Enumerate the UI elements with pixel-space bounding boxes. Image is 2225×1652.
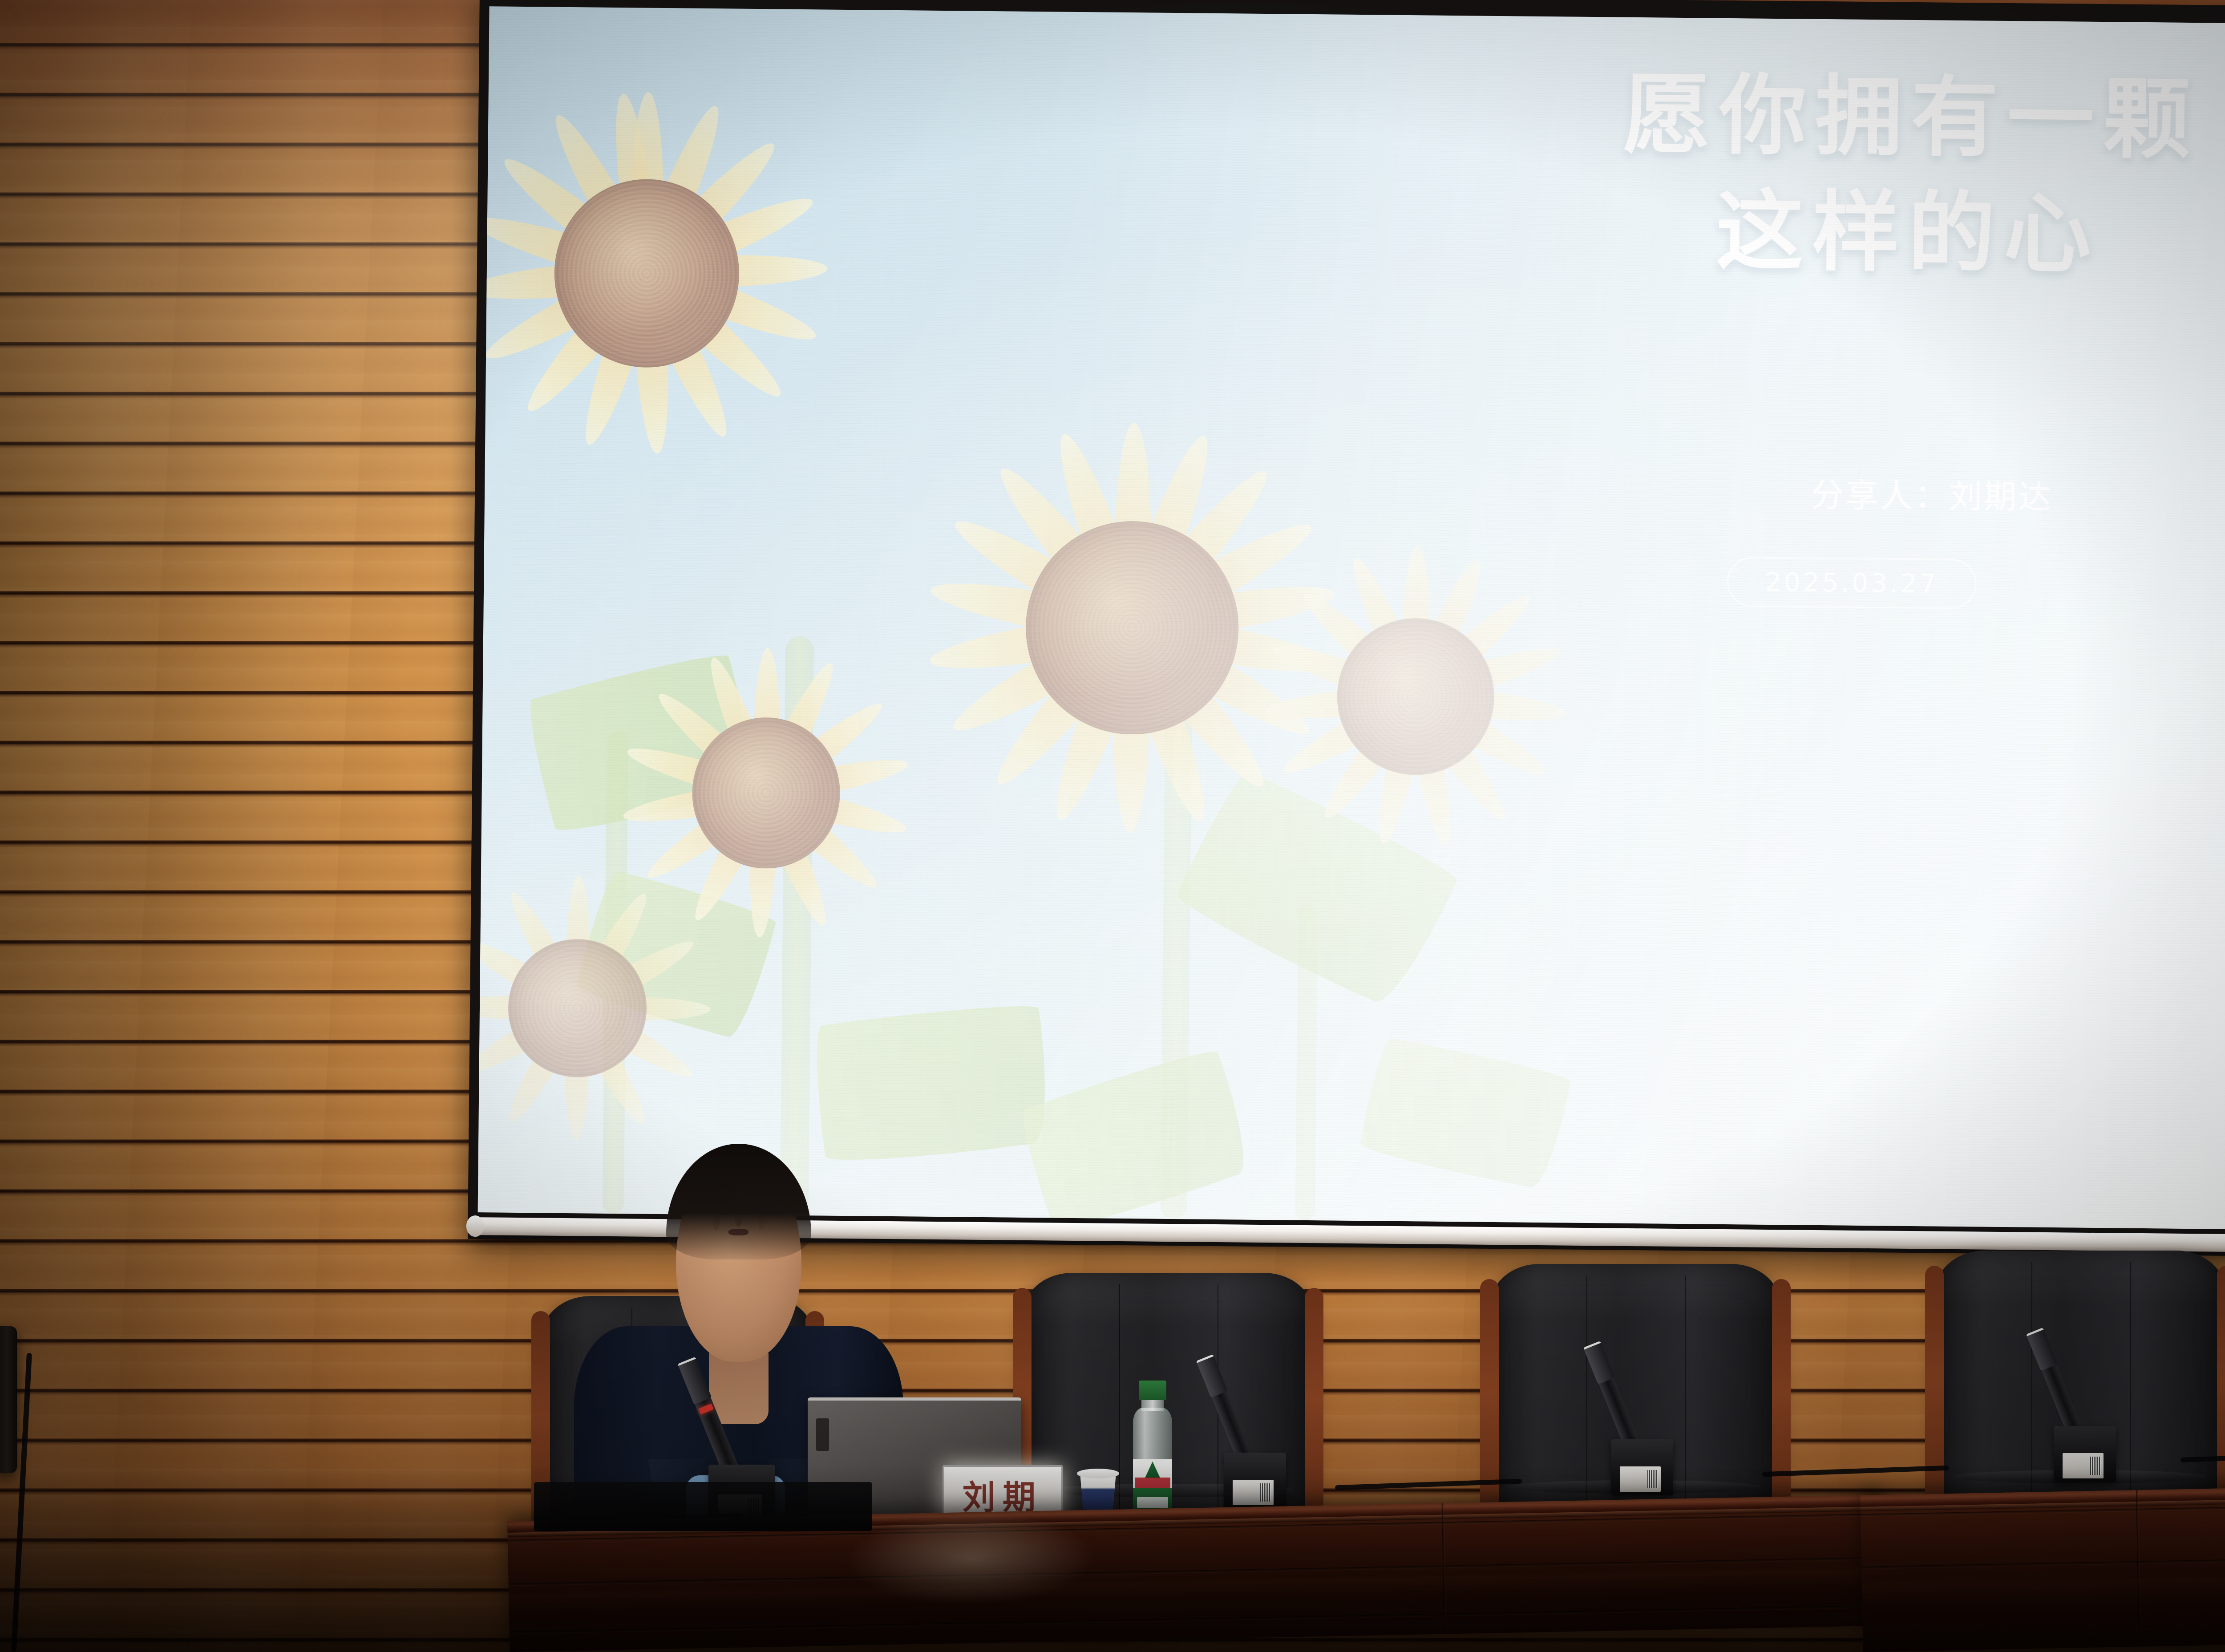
slide-presenter-label: 分享人：刘期达 <box>1811 469 2053 518</box>
qr-code-icon <box>2090 1457 2101 1475</box>
microphone-base <box>1611 1439 1673 1495</box>
slide-date-text: 2025.03.27 <box>1765 567 1939 599</box>
desk-equipment-cluster <box>534 1482 872 1531</box>
microphone-led-indicator <box>698 1403 713 1414</box>
desk-panel-groove <box>509 1557 1884 1586</box>
microphone-label <box>1233 1480 1274 1506</box>
roller-cap-left <box>466 1215 484 1237</box>
laptop-logo-icon <box>816 1418 829 1451</box>
slide-title-line-2: 这样的心 <box>1716 187 2100 278</box>
cup-rim <box>1077 1469 1119 1478</box>
bottle-brand-text <box>1135 1478 1171 1488</box>
slide-title-line-1: 愿你拥有一颗 <box>1623 71 2199 163</box>
bottle-cap <box>1139 1381 1166 1400</box>
conference-room-scene: 愿你拥有一颗 这样的心 分享人：刘期达 2025.03.27 <box>0 0 2225 1652</box>
desk-panel-seam <box>2136 1490 2141 1647</box>
microphone-seat-3[interactable] <box>1611 1362 1673 1495</box>
microphone-label <box>2063 1453 2104 1479</box>
presenter-hair <box>666 1144 811 1259</box>
qr-code-icon <box>1647 1470 1658 1489</box>
conference-desk-front-right <box>1860 1483 2225 1652</box>
microphone-base <box>1224 1453 1286 1509</box>
microphone-seat-4[interactable] <box>2054 1348 2116 1482</box>
slide-date-pill: 2025.03.27 <box>1727 557 1977 609</box>
microphone-seat-2[interactable] <box>1224 1375 1286 1509</box>
bottle-neck <box>1141 1399 1164 1411</box>
slide-canvas: 愿你拥有一颗 这样的心 分享人：刘期达 2025.03.27 <box>478 6 2225 1229</box>
slide-text-group: 愿你拥有一颗 这样的心 分享人：刘期达 2025.03.27 <box>478 6 2225 1229</box>
qr-code-icon <box>1260 1483 1271 1502</box>
projection-screen: 愿你拥有一颗 这样的心 分享人：刘期达 2025.03.27 <box>468 0 2225 1256</box>
microphone-base <box>2054 1426 2116 1482</box>
bottle-label-subtext <box>1137 1497 1168 1508</box>
wall-speaker <box>0 1326 17 1473</box>
microphone-label <box>1620 1466 1661 1492</box>
desk-panel-groove <box>1861 1555 2225 1569</box>
